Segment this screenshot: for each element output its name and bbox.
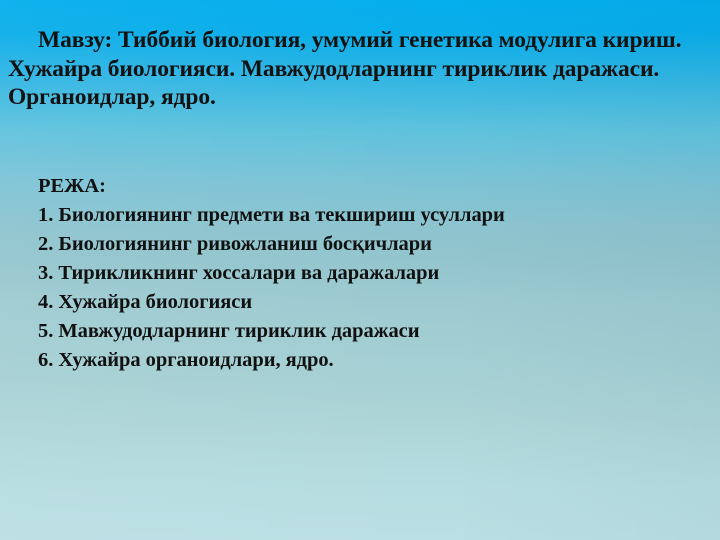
agenda-item-6-number: 6. (38, 349, 53, 371)
agenda-item-2-label: Биологиянинг ривожланиш босқичлари (58, 233, 432, 255)
presentation-slide: Мавзу: Тиббий биология, умумий генетика … (0, 0, 720, 540)
agenda-item-1-label: Биологиянинг предмети ва текшириш усулла… (58, 204, 504, 226)
agenda-item-3-number: 3. (38, 262, 53, 284)
agenda-item-1-number: 1. (38, 204, 53, 226)
agenda-item-5-label: Мавжудодларнинг тириклик даражаси (58, 320, 419, 342)
agenda-item-2-number: 2. (38, 233, 53, 255)
agenda-list: 1. Биологиянинг предмети ва текшириш усу… (38, 201, 698, 375)
agenda-item-6-label: Хужайра органоидлари, ядро. (58, 349, 333, 371)
agenda-item-5: 5. Мавжудодларнинг тириклик даражаси (38, 317, 698, 346)
agenda-item-5-number: 5. (38, 320, 53, 342)
agenda-block: РЕЖА: 1. Биологиянинг предмети ва текшир… (38, 172, 698, 375)
agenda-item-3: 3. Тирикликнинг хоссалари ва даражалари (38, 259, 698, 288)
agenda-item-4: 4. Хужайра биологияси (38, 288, 698, 317)
agenda-item-3-label: Тирикликнинг хоссалари ва даражалари (58, 262, 439, 284)
slide-title: Мавзу: Тиббий биология, умумий генетика … (8, 26, 714, 112)
agenda-item-4-label: Хужайра биологияси (58, 291, 252, 313)
agenda-item-2: 2. Биологиянинг ривожланиш босқичлари (38, 230, 698, 259)
agenda-item-1: 1. Биологиянинг предмети ва текшириш усу… (38, 201, 698, 230)
agenda-item-6: 6. Хужайра органоидлари, ядро. (38, 346, 698, 375)
agenda-heading: РЕЖА: (38, 172, 698, 201)
agenda-item-4-number: 4. (38, 291, 53, 313)
